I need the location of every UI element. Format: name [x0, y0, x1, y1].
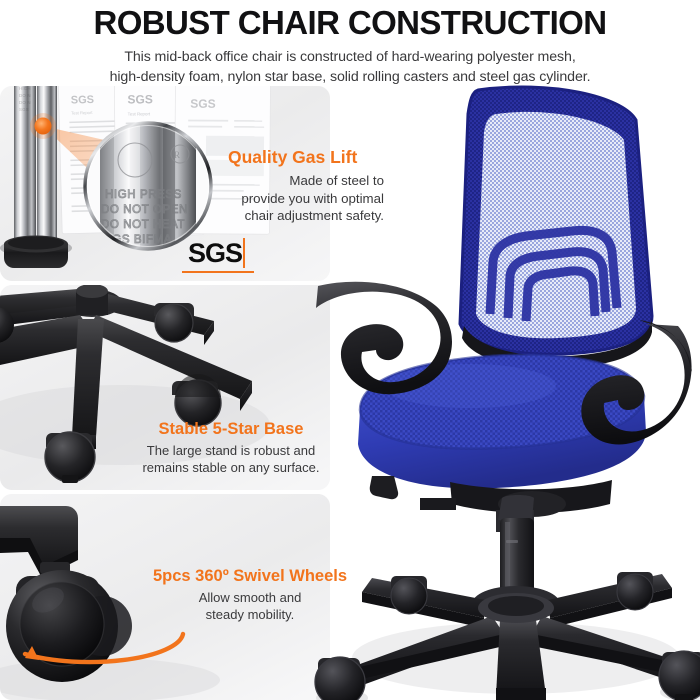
caster-wheel: [659, 651, 700, 700]
sgs-logo-underline: [182, 271, 254, 273]
svg-text:Test Report: Test Report: [71, 110, 93, 116]
svg-text:Test Report: Test Report: [128, 111, 151, 116]
office-chair-photo: [300, 80, 700, 700]
callout-body: The large stand is robust and remains st…: [140, 442, 322, 477]
svg-text:SGS: SGS: [127, 92, 152, 106]
page-title: ROBUST CHAIR CONSTRUCTION: [0, 0, 700, 39]
chair-armrest-left: [316, 282, 452, 395]
callout-body-line-2: remains stable on any surface.: [140, 459, 322, 476]
svg-text:SGS: SGS: [71, 94, 95, 107]
svg-text:SGS: SGS: [19, 107, 29, 112]
callout-stable-5-star-base: Stable 5-Star Base The large stand is ro…: [140, 420, 322, 477]
caster-wheel: [391, 576, 427, 614]
chair-star-base: [315, 572, 700, 700]
product-infographic: ROBUST CHAIR CONSTRUCTION This mid-back …: [0, 0, 700, 700]
svg-text:DO N: DO N: [19, 93, 31, 98]
header: ROBUST CHAIR CONSTRUCTION This mid-back …: [0, 0, 700, 86]
callout-body-line-1: The large stand is robust and: [140, 442, 322, 459]
marker-dot-icon: [30, 113, 56, 139]
sgs-logo: SGS: [188, 240, 242, 267]
caster-wheel: [154, 303, 194, 342]
svg-text:SGS: SGS: [190, 97, 215, 111]
subtitle-line-1: This mid-back office chair is constructe…: [0, 47, 700, 67]
svg-text:DO N: DO N: [19, 100, 31, 105]
magnifier-detail: R HIGH PRESS DO NOT OPEN DO NOT HEAT SGS…: [85, 123, 211, 249]
caster-wheel: [617, 572, 653, 610]
chair-graphic: [300, 80, 700, 700]
emboss-line-2: DO NOT OPEN: [101, 204, 188, 216]
emboss-line-3: DO NOT HEAT: [101, 219, 185, 231]
sgs-logo-text: SGS: [188, 238, 242, 268]
callout-heading: Stable 5-Star Base: [140, 420, 322, 439]
svg-text:R: R: [174, 150, 180, 160]
chair-backrest: [460, 87, 652, 368]
sgs-logo-vertical-bar: [243, 238, 245, 268]
emboss-line-1: HIGH PRESS: [105, 189, 182, 201]
svg-text:HIGH: HIGH: [19, 86, 31, 91]
